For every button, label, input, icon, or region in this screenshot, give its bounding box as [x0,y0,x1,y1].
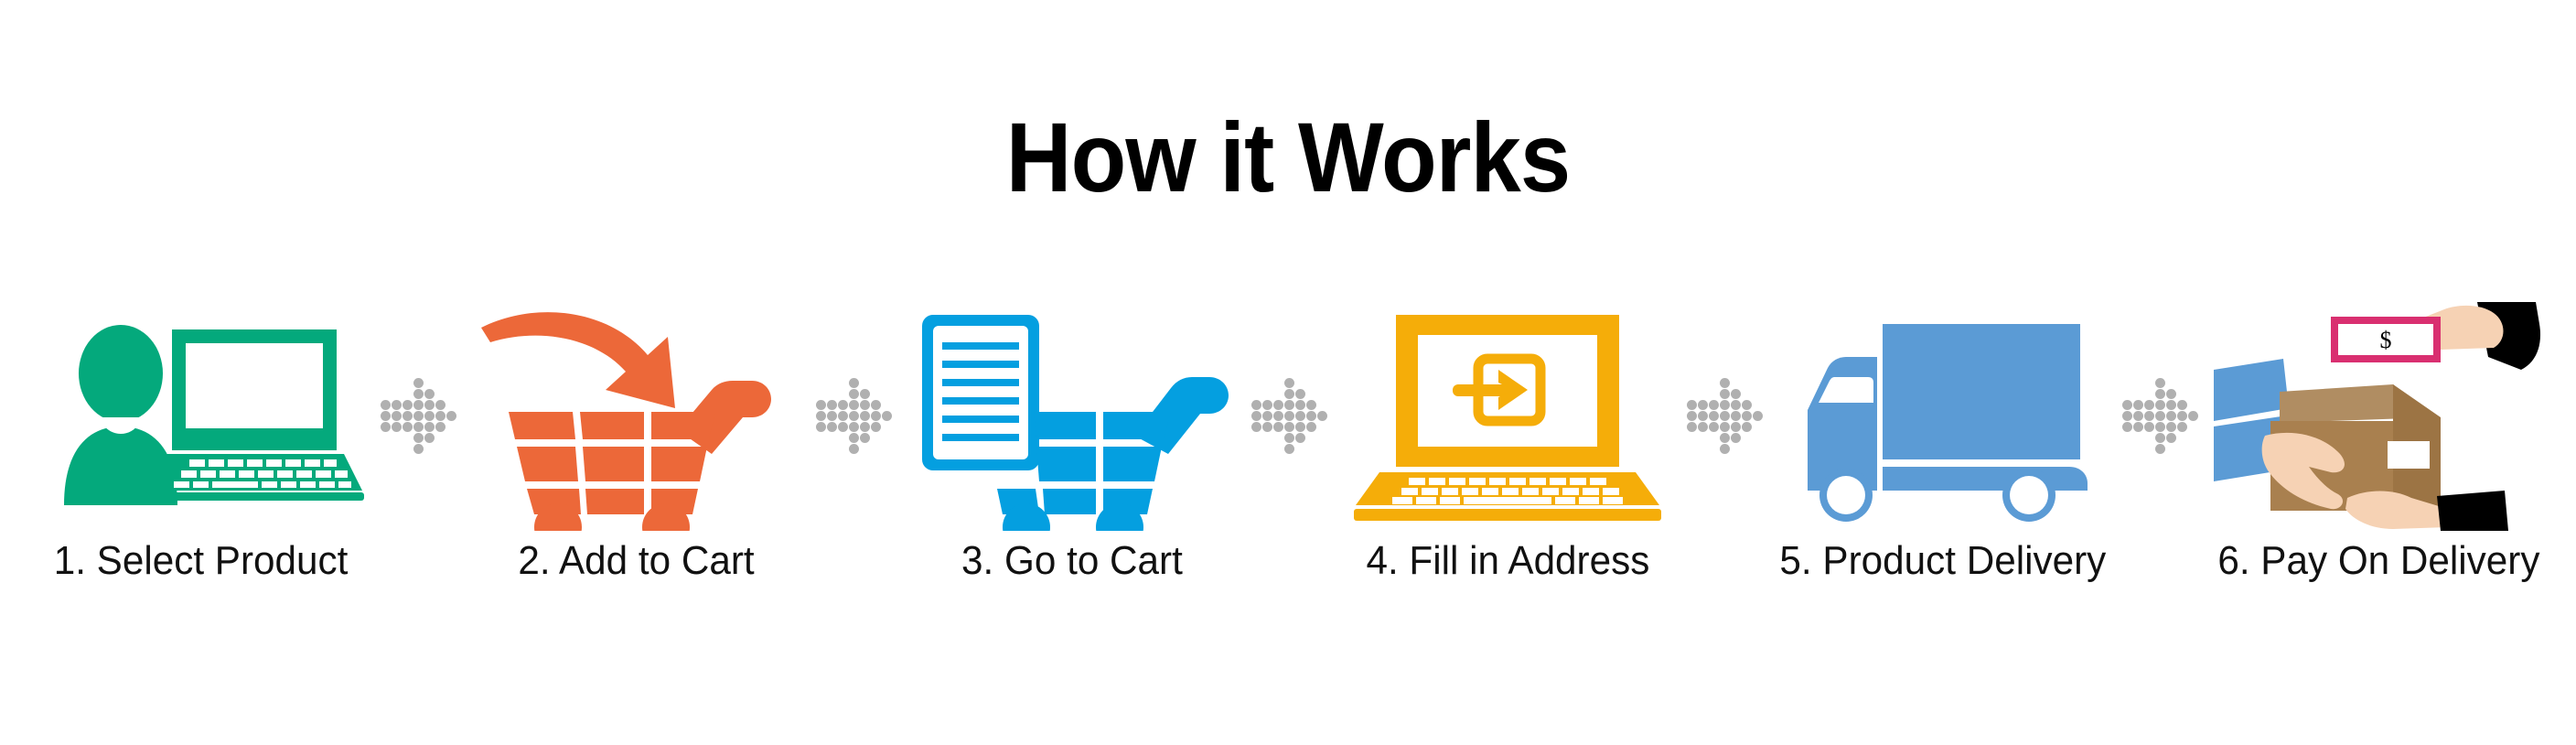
dotted-right-arrow-icon [2122,378,2199,455]
flow-separator-4 [1680,302,1771,531]
flow-separator-3 [1244,302,1336,531]
flow-separator-2 [809,302,900,531]
step-5-product-delivery[interactable]: 5. Product Delivery [1778,302,2108,641]
steps-flow: 1. Select Product [37,302,2543,641]
laptop-login-icon [1343,302,1672,531]
step-2-label: 2. Add to Cart [519,538,755,584]
flow-separator-1 [373,302,465,531]
dotted-right-arrow-icon [816,378,893,455]
step-1-select-product[interactable]: 1. Select Product [37,302,366,641]
cash-on-delivery-icon: $ [2214,302,2543,531]
how-it-works-infographic: How it Works [0,0,2576,745]
document-with-cart-icon [907,302,1237,531]
step-3-go-to-cart[interactable]: 3. Go to Cart [907,302,1237,641]
step-6-pay-on-delivery[interactable]: $ [2214,302,2543,641]
svg-text:$: $ [2380,327,2392,353]
page-title: How it Works [103,108,2474,207]
step-5-label: 5. Product Delivery [1780,538,2107,584]
step-6-label: 6. Pay On Delivery [2217,538,2539,584]
dotted-right-arrow-icon [381,378,457,455]
step-2-add-to-cart[interactable]: 2. Add to Cart [472,302,801,641]
dotted-right-arrow-icon [1251,378,1328,455]
person-with-laptop-icon [37,302,366,531]
step-4-label: 4. Fill in Address [1366,538,1649,584]
step-3-label: 3. Go to Cart [961,538,1183,584]
flow-separator-5 [2115,302,2206,531]
cart-with-arrow-icon [472,302,801,531]
step-1-label: 1. Select Product [54,538,349,584]
step-4-fill-in-address[interactable]: 4. Fill in Address [1343,302,1672,641]
dotted-right-arrow-icon [1687,378,1764,455]
delivery-truck-icon [1778,302,2108,531]
